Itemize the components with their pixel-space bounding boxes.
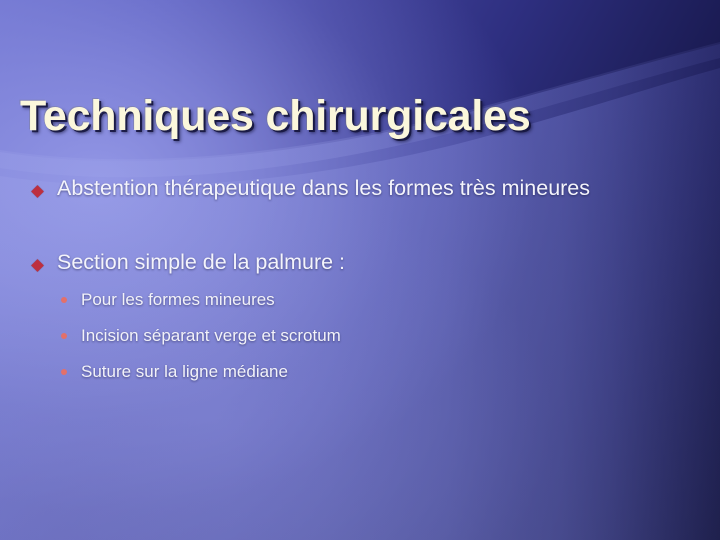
bullet-text: Section simple de la palmure : xyxy=(57,250,345,274)
bullet-item-level2: Suture sur la ligne médiane xyxy=(0,363,720,380)
diamond-bullet-icon xyxy=(31,259,44,272)
bullet-item-level2: Incision séparant verge et scrotum xyxy=(0,327,720,344)
bullet-text: Suture sur la ligne médiane xyxy=(81,362,288,381)
bullet-text: Pour les formes mineures xyxy=(81,290,275,309)
spacer xyxy=(0,308,720,327)
bullet-text: Incision séparant verge et scrotum xyxy=(81,326,341,345)
slide-body: Abstention thérapeutique dans les formes… xyxy=(0,178,720,380)
dot-bullet-icon xyxy=(61,369,67,375)
bullet-text: Abstention thérapeutique dans les formes… xyxy=(57,176,590,200)
slide-title: Techniques chirurgicales xyxy=(20,95,700,138)
spacer xyxy=(0,273,720,291)
dot-bullet-icon xyxy=(61,333,67,339)
bullet-item-level1: Abstention thérapeutique dans les formes… xyxy=(0,178,720,200)
diamond-bullet-icon xyxy=(31,185,44,198)
dot-bullet-icon xyxy=(61,297,67,303)
presentation-slide: Techniques chirurgicales Abstention thér… xyxy=(0,0,720,540)
bullet-item-level1: Section simple de la palmure : xyxy=(0,252,720,274)
bullet-item-level2: Pour les formes mineures xyxy=(0,291,720,308)
spacer xyxy=(0,200,720,252)
spacer xyxy=(0,344,720,363)
